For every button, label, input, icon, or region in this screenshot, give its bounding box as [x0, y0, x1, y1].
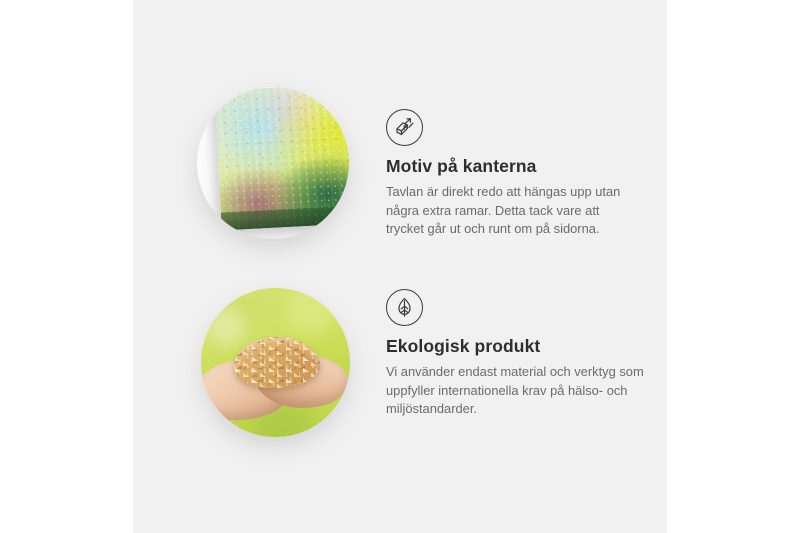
- content-panel: [133, 0, 667, 533]
- feature-title: Ekologisk produkt: [386, 336, 658, 358]
- canvas-print-photo: [197, 87, 349, 239]
- canvas-print-photo-image: [197, 87, 349, 239]
- feature-text-canvas-edges: Motiv på kanterna Tavlan är direkt redo …: [386, 109, 648, 239]
- eco-wood-chips-photo: [201, 288, 350, 437]
- eco-wood-chips-photo-image: [201, 288, 350, 437]
- wood-chips: [234, 337, 320, 388]
- canvas-wrapped-edge-icon: [386, 109, 423, 146]
- feature-description: Tavlan är direkt redo att hängas upp uta…: [386, 183, 638, 239]
- canvas-block: [215, 87, 349, 230]
- product-feature-banner: Motiv på kanterna Tavlan är direkt redo …: [0, 0, 800, 533]
- feature-title: Motiv på kanterna: [386, 156, 648, 178]
- leaf-icon: [386, 289, 423, 326]
- feature-description: Vi använder endast material och verktyg …: [386, 363, 654, 419]
- feature-text-eco-product: Ekologisk produkt Vi använder endast mat…: [386, 289, 658, 419]
